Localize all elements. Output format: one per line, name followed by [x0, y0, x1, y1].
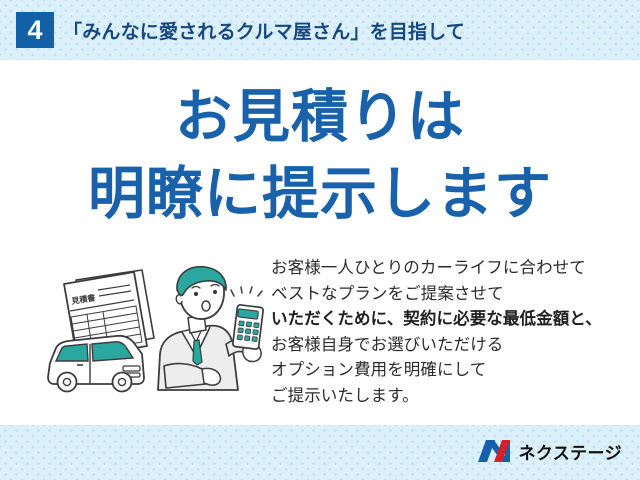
sparkle-icon — [231, 287, 262, 296]
body-copy: お客様一人ひとりのカーライフに合わせて ベストなプランをご提案させて いただくた… — [271, 256, 623, 409]
calculator-icon — [233, 305, 264, 350]
footer-logo: ネクステージ — [477, 438, 622, 464]
headline-line-1: お見積りは — [0, 86, 640, 148]
nextstage-n-logo-icon — [477, 439, 511, 463]
body-line: お客様一人ひとりのカーライフに合わせて — [271, 256, 623, 282]
illustration-salesman-quote-van: 見積書 — [30, 262, 270, 420]
body-line: いただくために、契約に必要な最低金額と、 — [271, 307, 623, 333]
body-line: ご提示いたします。 — [271, 384, 623, 410]
body-line: オプション費用を明確にして — [271, 358, 623, 384]
van-illustration — [48, 336, 144, 392]
footer-logo-text: ネクステージ — [518, 439, 622, 464]
header-step-badge: 4 — [16, 12, 54, 48]
headline-line-2: 明瞭に提示します — [0, 163, 640, 225]
body-line: ベストなプランをご提案させて — [271, 282, 623, 308]
body-line: お客様自身でお選びいただける — [271, 333, 623, 359]
header-title: 「みんなに愛されるクルマ屋さん」を目指して — [63, 17, 465, 44]
promo-slide: 4 「みんなに愛されるクルマ屋さん」を目指して お見積りは 明瞭に提示します お… — [0, 0, 640, 480]
